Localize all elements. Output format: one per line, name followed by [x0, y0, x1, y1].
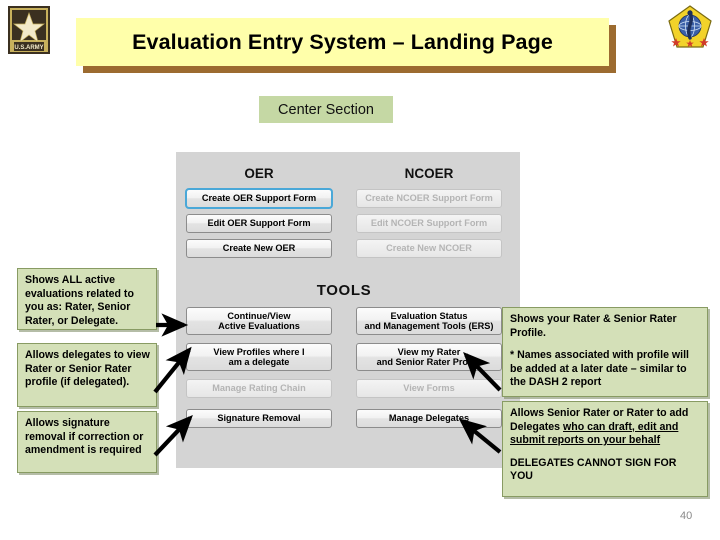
landing-page-panel: OER NCOER Create OER Support Form Edit O…: [176, 152, 520, 468]
callout-text-line-2: * Names associated with profile will be …: [510, 349, 701, 390]
slide-title-banner: Evaluation Entry System – Landing Page: [76, 18, 609, 66]
page-title: Evaluation Entry System – Landing Page: [132, 30, 553, 55]
page-number: 40: [680, 510, 692, 522]
callout-delegates-view-profile: Allows delegates to view Rater or Senior…: [17, 343, 157, 407]
center-section-label: Center Section: [259, 96, 393, 123]
view-my-rater-and-senior-rater-profile-button[interactable]: View my Rater and Senior Rater Profile: [356, 343, 502, 371]
create-oer-support-form-button[interactable]: Create OER Support Form: [186, 189, 332, 208]
create-new-oer-button[interactable]: Create New OER: [186, 239, 332, 258]
create-ncoer-support-form-button: Create NCOER Support Form: [356, 189, 502, 208]
tools-section-heading: TOOLS: [184, 282, 504, 299]
button-line-1: View Profiles where I: [213, 347, 304, 357]
button-line-1: View my Rater: [377, 347, 482, 357]
manage-rating-chain-button: Manage Rating Chain: [186, 379, 332, 398]
button-line-2: and Senior Rater Profile: [377, 357, 482, 367]
ncoer-column-heading: NCOER: [354, 166, 504, 181]
us-army-star-logo: U.S.ARMY: [7, 5, 51, 55]
button-line-1: Evaluation Status: [365, 311, 494, 321]
callout-text-line-1: Shows your Rater & Senior Rater Profile.: [510, 313, 701, 340]
callout-text: Shows ALL active evaluations related to …: [25, 274, 150, 328]
callout-text-line-1: Allows Senior Rater or Rater to add Dele…: [510, 407, 701, 448]
manage-delegates-button[interactable]: Manage Delegates: [356, 409, 502, 428]
callout-text: Allows signature removal if correction o…: [25, 417, 150, 458]
create-new-ncoer-button: Create New NCOER: [356, 239, 502, 258]
edit-oer-support-form-button[interactable]: Edit OER Support Form: [186, 214, 332, 233]
callout-text: Allows delegates to view Rater or Senior…: [25, 349, 150, 390]
signature-removal-button[interactable]: Signature Removal: [186, 409, 332, 428]
button-line-1: Continue/View: [218, 311, 300, 321]
oer-column-heading: OER: [184, 166, 334, 181]
evaluation-status-management-tools-button[interactable]: Evaluation Status and Management Tools (…: [356, 307, 502, 335]
hrc-pentagon-emblem: [667, 4, 713, 52]
callout-rater-senior-rater-profile: Shows your Rater & Senior Rater Profile.…: [502, 307, 708, 397]
svg-text:U.S.ARMY: U.S.ARMY: [14, 45, 43, 51]
button-line-2: and Management Tools (ERS): [365, 321, 494, 331]
continue-view-active-evaluations-button[interactable]: Continue/View Active Evaluations: [186, 307, 332, 335]
edit-ncoer-support-form-button: Edit NCOER Support Form: [356, 214, 502, 233]
button-line-2: am a delegate: [213, 357, 304, 367]
callout-signature-removal: Allows signature removal if correction o…: [17, 411, 157, 473]
callout-manage-delegates: Allows Senior Rater or Rater to add Dele…: [502, 401, 708, 497]
callout-active-evaluations: Shows ALL active evaluations related to …: [17, 268, 157, 330]
callout-text-line-2: DELEGATES CANNOT SIGN FOR YOU: [510, 457, 701, 484]
view-forms-button: View Forms: [356, 379, 502, 398]
button-line-2: Active Evaluations: [218, 321, 300, 331]
view-profiles-where-i-am-a-delegate-button[interactable]: View Profiles where I am a delegate: [186, 343, 332, 371]
